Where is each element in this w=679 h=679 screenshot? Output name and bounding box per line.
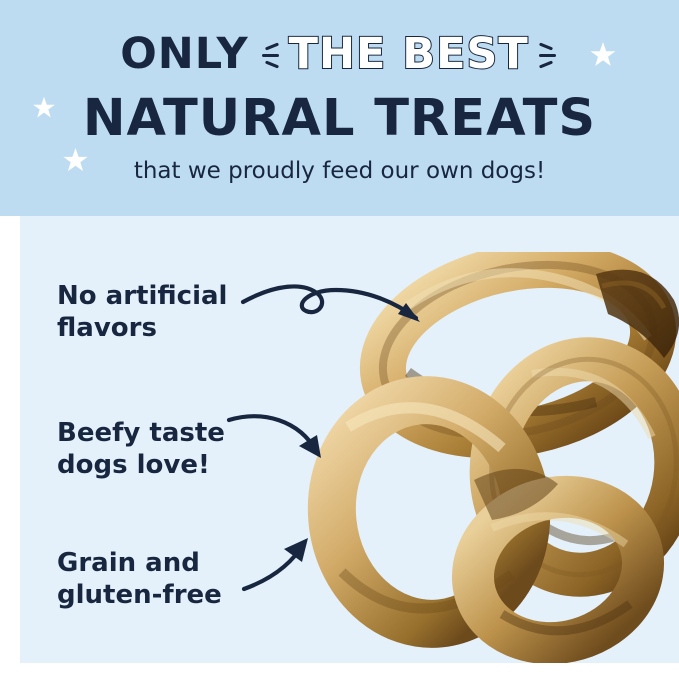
benefit-text-2: Beefy taste dogs love! xyxy=(57,418,225,482)
headline-line-1: ONLY THE BEST xyxy=(0,33,679,76)
sparkle-lines-icon xyxy=(539,38,559,72)
benefit-text-3: Grain and gluten-free xyxy=(57,548,222,612)
benefit-text-1: No artificial flavors xyxy=(57,281,227,345)
sparkle-lines-icon xyxy=(259,38,279,72)
curved-arrow-icon xyxy=(240,278,440,348)
bottom-margin-strip xyxy=(0,663,679,679)
headline-line-2: NATURAL TREATS xyxy=(0,93,679,144)
headline-subline: that we proudly feed our own dogs! xyxy=(0,160,679,183)
headline-only-word: ONLY xyxy=(120,33,248,76)
headline-the-best-word: THE BEST xyxy=(289,33,529,76)
curved-arrow-icon xyxy=(240,535,320,601)
curved-arrow-icon xyxy=(225,408,335,474)
left-margin-strip xyxy=(0,216,20,679)
poster-canvas: ONLY THE BEST NATURAL TREATS that we pro… xyxy=(0,0,679,679)
